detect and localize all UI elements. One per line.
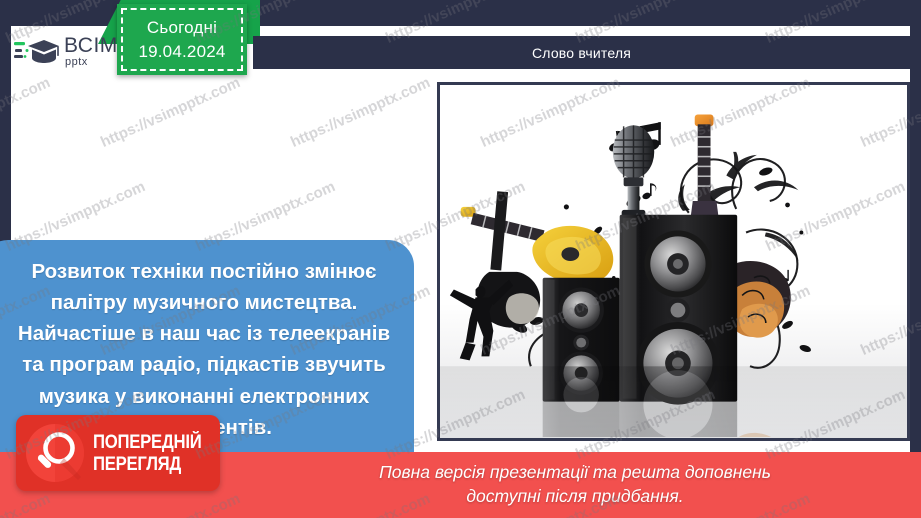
graduation-cap-icon	[14, 34, 60, 68]
purchase-notice-line2: доступні після придбання.	[267, 485, 883, 509]
page-title: Слово вчителя	[532, 45, 631, 61]
preview-badge-line2: ПЕРЕГЛЯД	[93, 455, 202, 474]
music-illustration-frame	[437, 82, 910, 441]
magnifier-icon	[24, 422, 86, 484]
music-illustration-canvas	[440, 85, 907, 438]
brand-logo-text: ВСІМ pptx	[64, 35, 118, 68]
vintage-microphone	[613, 125, 654, 216]
purchase-notice-line1: Повна версія презентації та решта доповн…	[267, 461, 883, 485]
brand-name: ВСІМ	[64, 35, 118, 56]
today-date-badge: Сьогодні 19.04.2024	[117, 4, 247, 75]
purchase-notice-text: Повна версія презентації та решта доповн…	[267, 461, 883, 508]
today-label: Сьогодні	[147, 17, 217, 38]
brand-logo: ВСІМ pptx	[14, 29, 126, 73]
preview-badge-line1: ПОПЕРЕДНІЙ	[93, 433, 202, 452]
electric-guitar-yellow	[461, 207, 614, 284]
music-speakers-illustration	[440, 85, 907, 438]
preview-badge: ПОПЕРЕДНІЙ ПЕРЕГЛЯД	[16, 415, 220, 491]
slide-canvas: ВСІМ pptx Сьогодні 19.04.2024 Слово вчит…	[0, 0, 921, 518]
slide-header-bar: Слово вчителя	[253, 36, 910, 69]
brand-suffix: pptx	[65, 57, 118, 68]
today-date: 19.04.2024	[138, 41, 225, 62]
preview-badge-text: ПОПЕРЕДНІЙ ПЕРЕГЛЯД	[93, 433, 216, 474]
